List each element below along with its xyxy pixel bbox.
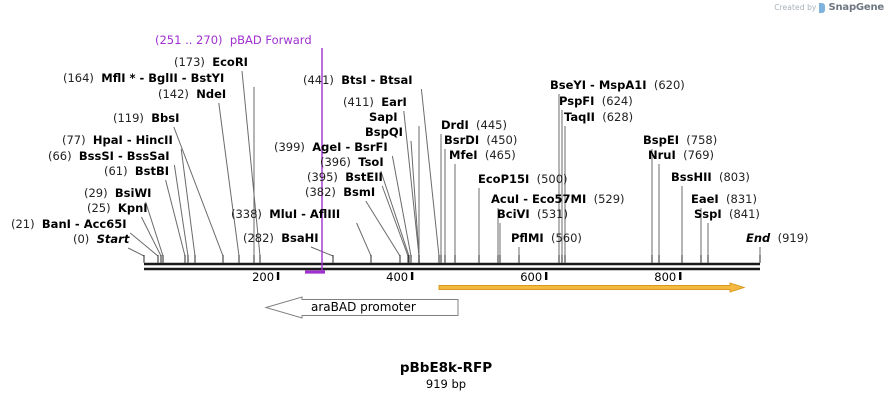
enzyme-name-separator: -: [367, 73, 380, 87]
enzyme-label-tsoi[interactable]: (396) TsoI: [320, 156, 384, 169]
enzyme-name: BssSaI: [127, 149, 170, 163]
plasmid-linear-map: [0, 0, 892, 400]
enzyme-name: TsoI: [358, 155, 383, 169]
enzyme-label-ecop15i[interactable]: EcoP15I (500): [478, 173, 568, 186]
enzyme-name-separator: -: [71, 217, 84, 231]
enzyme-name: EcoRI: [212, 55, 248, 69]
enzyme-name: BspQI: [365, 125, 403, 139]
enzyme-position: (173): [174, 55, 205, 69]
enzyme-label-bbsi[interactable]: (119) BbsI: [113, 112, 179, 125]
enzyme-label-bsrdi[interactable]: BsrDI (450): [444, 134, 517, 147]
ruler-number-400: 400: [380, 270, 408, 284]
enzyme-name: BsiWI: [115, 186, 152, 200]
enzyme-name: DrdI: [441, 118, 469, 132]
enzyme-position: (395): [307, 170, 338, 184]
enzyme-name: BciVI: [497, 207, 530, 221]
enzyme-label-ndei[interactable]: (142) NdeI: [158, 88, 226, 101]
orange-feature-arrow[interactable]: [439, 283, 744, 292]
enzyme-name: BstEII: [345, 170, 383, 184]
enzyme-position: (831): [726, 192, 757, 206]
enzyme-name: BtsaI: [379, 73, 412, 87]
enzyme-label-bsmi[interactable]: (382) BsmI: [305, 186, 375, 199]
enzyme-name: BstYI: [191, 71, 225, 85]
enzyme-name: BbsI: [151, 111, 179, 125]
enzyme-position: (500): [537, 172, 568, 186]
enzyme-position: (382): [305, 185, 336, 199]
enzyme-position: (164): [63, 71, 94, 85]
enzyme-position: (251 .. 270): [155, 33, 223, 47]
enzyme-label-btsi-btsai[interactable]: (441) BtsI - BtsaI: [303, 74, 413, 87]
leader-line-btsi-btsai: [421, 89, 439, 256]
ruler-ticks: [278, 272, 680, 280]
enzyme-label-nrui[interactable]: NruI (769): [648, 149, 714, 162]
enzyme-name: BsaHI: [281, 231, 318, 245]
enzyme-label-bseyi-mspa1i[interactable]: BseYI - MspA1I (620): [550, 79, 685, 92]
leader-line-bani-acc65i: [130, 233, 158, 256]
enzyme-label-kpni[interactable]: (25) KpnI: [87, 202, 148, 215]
enzyme-name: AcuI: [491, 192, 519, 206]
enzyme-position: (531): [537, 207, 568, 221]
enzyme-site-ticks: [144, 255, 760, 263]
enzyme-name: SapI: [369, 110, 398, 124]
enzyme-label-start[interactable]: (0) Start: [73, 233, 129, 246]
enzyme-position: (919): [778, 231, 809, 245]
enzyme-position: (769): [683, 148, 714, 162]
enzyme-name: NdeI: [196, 87, 226, 101]
enzyme-position: (560): [551, 231, 582, 245]
enzyme-name: BstBI: [135, 164, 169, 178]
leader-line-agei-bsrfi: [392, 156, 411, 256]
enzyme-name: BssSI: [79, 149, 114, 163]
enzyme-name: EarI: [381, 95, 407, 109]
enzyme-name-separator: -: [136, 71, 149, 85]
enzyme-label-mlui-afliii[interactable]: (338) MluI - AflIII: [231, 208, 340, 221]
enzyme-label-bsahi[interactable]: (282) BsaHI: [243, 232, 319, 245]
enzyme-name: MluI: [269, 207, 297, 221]
enzyme-name: PflMI: [511, 231, 544, 245]
leader-line-bspqi: [411, 141, 419, 256]
enzyme-name-separator: -: [519, 192, 532, 206]
enzyme-name: Acc65I: [84, 217, 127, 231]
enzyme-name: TaqII: [564, 110, 595, 124]
enzyme-name: MfeI: [449, 148, 478, 162]
enzyme-name-separator: -: [123, 133, 136, 147]
enzyme-name: End: [746, 231, 770, 245]
enzyme-label-bsssi-bsssai[interactable]: (66) BssSI - BssSaI: [48, 150, 170, 163]
enzyme-position: (338): [231, 207, 262, 221]
enzyme-position: (758): [686, 133, 717, 147]
enzyme-name: BsrFI: [354, 140, 387, 154]
enzyme-name-separator: -: [297, 207, 310, 221]
enzyme-name-separator: -: [114, 149, 127, 163]
enzyme-label-hpai-hincii[interactable]: (77) HpaI - HincII: [62, 134, 173, 147]
enzyme-position: (628): [602, 110, 633, 124]
enzyme-position: (77): [62, 133, 86, 147]
enzyme-label-taqii[interactable]: TaqII (628): [564, 111, 633, 124]
map-length-label: 919 bp: [0, 377, 892, 391]
enzyme-position: (399): [274, 140, 305, 154]
enzyme-label-bsshii[interactable]: BssHII (803): [671, 171, 750, 184]
enzyme-label-pspfi[interactable]: PspFI (624): [559, 95, 633, 108]
sequence-axis: [144, 264, 760, 269]
enzyme-position: (803): [719, 170, 750, 184]
leader-line-bsmi: [366, 201, 400, 256]
enzyme-name: Start: [97, 232, 130, 246]
enzyme-position: (441): [303, 73, 334, 87]
enzyme-label-bstbi[interactable]: (61) BstBI: [104, 165, 169, 178]
enzyme-name: AflIII: [310, 207, 340, 221]
enzyme-name: EaeI: [691, 192, 719, 206]
enzyme-name: KpnI: [118, 201, 148, 215]
leader-line-tsoi: [381, 171, 409, 256]
enzyme-label-bani-acc65i[interactable]: (21) BanI - Acc65I: [11, 218, 127, 231]
enzyme-name: AgeI: [312, 140, 341, 154]
enzyme-label-bcivi[interactable]: BciVI (531): [497, 208, 568, 221]
enzyme-name: BsmI: [343, 185, 375, 199]
enzyme-name: SspI: [694, 207, 722, 221]
leader-line-ndei: [219, 103, 239, 256]
enzyme-label-eari[interactable]: (411) EarI: [343, 96, 407, 109]
enzyme-position: (396): [320, 155, 351, 169]
enzyme-name: HincII: [136, 133, 173, 147]
leader-line-mlui-afliii: [357, 223, 371, 256]
enzyme-position: (411): [343, 95, 374, 109]
enzyme-label-bsiwi[interactable]: (29) BsiWI: [84, 187, 151, 200]
enzyme-name: BspEI: [643, 133, 679, 147]
enzyme-label-ecori[interactable]: (173) EcoRI: [174, 56, 248, 69]
enzyme-label-pflmi[interactable]: PflMI (560): [511, 232, 582, 245]
enzyme-position: (465): [485, 148, 516, 162]
enzyme-position: (119): [113, 111, 144, 125]
enzyme-name-separator: -: [178, 71, 191, 85]
enzyme-label-acui-eco57mi[interactable]: AcuI - Eco57MI (529): [491, 193, 625, 206]
enzyme-label-agei-bsrfi[interactable]: (399) AgeI - BsrFI: [274, 141, 388, 154]
enzyme-position: (29): [84, 186, 108, 200]
enzyme-label-bspqi[interactable]: BspQI: [365, 126, 403, 139]
enzyme-name-separator: -: [341, 140, 354, 154]
enzyme-position: (282): [243, 231, 274, 245]
enzyme-position: (445): [476, 118, 507, 132]
enzyme-name: BglII: [148, 71, 178, 85]
enzyme-label-end[interactable]: End (919): [746, 232, 809, 245]
enzyme-name: BsrDI: [444, 133, 479, 147]
leader-line-ecori: [242, 71, 260, 256]
enzyme-position: (841): [729, 207, 760, 221]
enzyme-name: Eco57MI: [532, 192, 586, 206]
enzyme-position: (25): [87, 201, 111, 215]
enzyme-name: BssHII: [671, 170, 712, 184]
enzyme-label-sapi[interactable]: SapI: [369, 111, 398, 124]
ruler-number-600: 600: [514, 270, 542, 284]
enzyme-name: BanI: [42, 217, 71, 231]
enzyme-name: BseYI: [550, 78, 586, 92]
enzyme-name: MflI *: [101, 71, 135, 85]
enzyme-position: (142): [158, 87, 189, 101]
enzyme-position: (620): [654, 78, 685, 92]
enzyme-position: (0): [73, 232, 89, 246]
enzyme-name: HpaI: [93, 133, 123, 147]
leader-line-start: [128, 248, 144, 256]
leader-line-bbsi: [174, 127, 223, 256]
enzyme-name: BtsI: [341, 73, 366, 87]
enzyme-position: (21): [11, 217, 35, 231]
map-title: pBbE8k-RFP: [0, 360, 892, 376]
enzyme-position: (61): [104, 164, 128, 178]
leader-line-eari: [404, 111, 419, 256]
enzyme-name: PspFI: [559, 94, 594, 108]
enzyme-position: (624): [602, 94, 633, 108]
enzyme-label-pbad-forward[interactable]: (251 .. 270) pBAD Forward: [155, 34, 312, 47]
enzyme-name: pBAD Forward: [230, 33, 312, 47]
enzyme-position: (450): [486, 133, 517, 147]
enzyme-label-drdi[interactable]: DrdI (445): [441, 119, 507, 132]
ruler-number-200: 200: [246, 270, 274, 284]
arabad-promoter-label: araBAD promoter: [311, 300, 416, 314]
enzyme-label-mfli-bglii-bstyi[interactable]: (164) MflI * - BglII - BstYI: [63, 72, 224, 85]
enzyme-name: EcoP15I: [478, 172, 529, 186]
enzyme-position: (529): [594, 192, 625, 206]
enzyme-name: MspA1I: [599, 78, 647, 92]
ruler-number-800: 800: [648, 270, 676, 284]
enzyme-name-separator: -: [586, 78, 599, 92]
enzyme-label-bstell[interactable]: (395) BstEII: [307, 171, 383, 184]
enzyme-label-bspei[interactable]: BspEI (758): [643, 134, 717, 147]
enzyme-name: NruI: [648, 148, 676, 162]
enzyme-label-sspi[interactable]: SspI (841): [694, 208, 760, 221]
enzyme-label-mfei[interactable]: MfeI (465): [449, 149, 516, 162]
enzyme-position: (66): [48, 149, 72, 163]
enzyme-label-eaei[interactable]: EaeI (831): [691, 193, 757, 206]
